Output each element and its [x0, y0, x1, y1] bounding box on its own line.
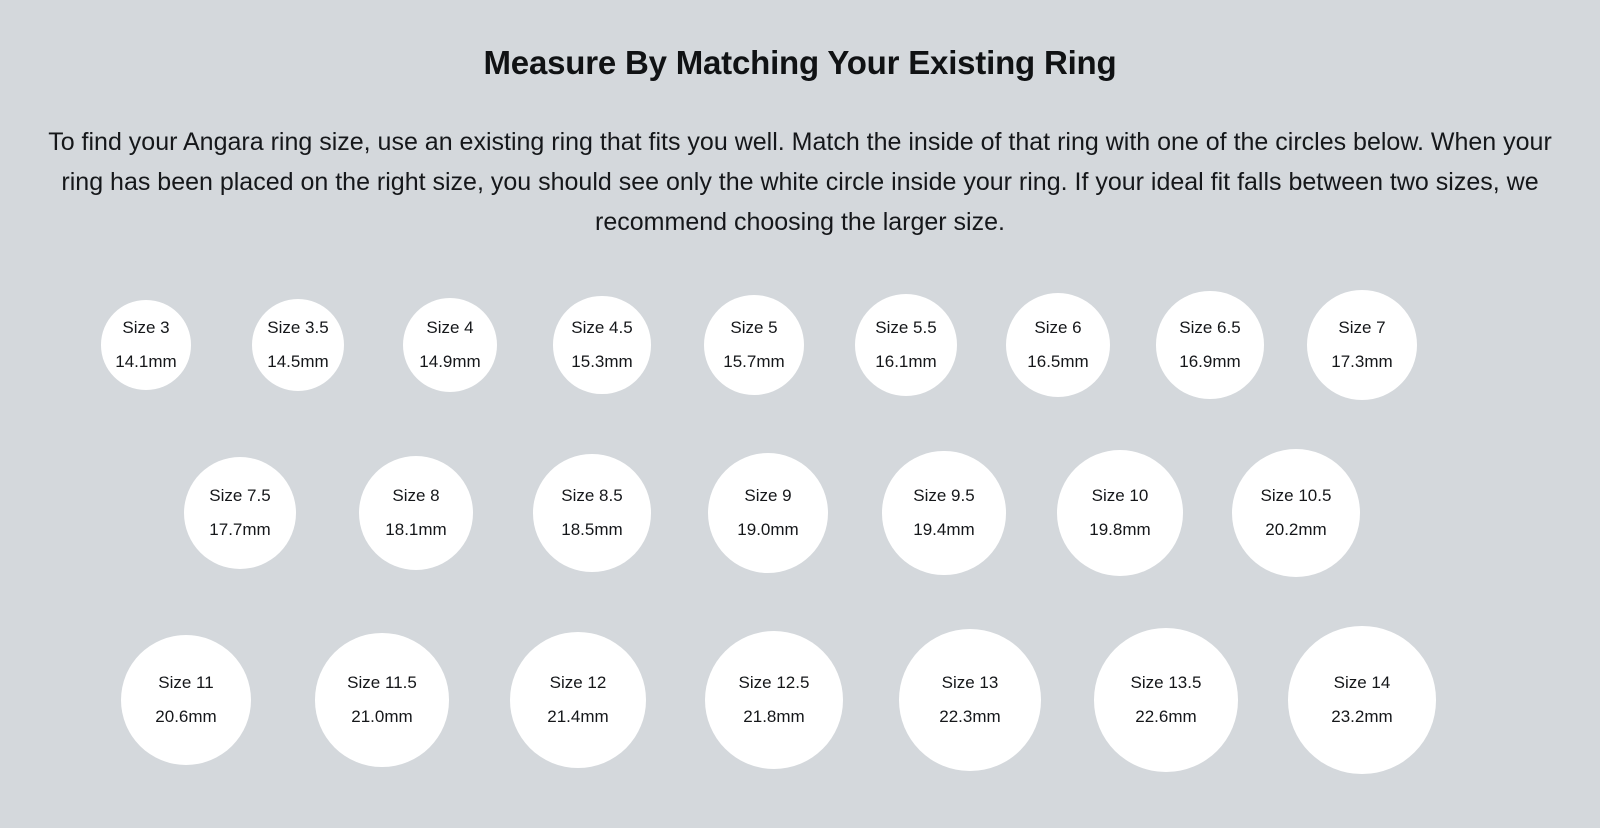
ring-diameter-label: 14.5mm	[267, 352, 328, 372]
ring-size-label: Size 13.5	[1131, 673, 1202, 693]
ring-size-label: Size 9	[744, 486, 791, 506]
ring-size-label: Size 10.5	[1261, 486, 1332, 506]
ring-size-label: Size 4	[426, 318, 473, 338]
ring-size-label: Size 5	[730, 318, 777, 338]
ring-size-label: Size 10	[1092, 486, 1149, 506]
ring-diameter-label: 15.7mm	[723, 352, 784, 372]
ring-size-circle[interactable]: Size 8.518.5mm	[533, 454, 650, 571]
ring-size-circle[interactable]: Size 515.7mm	[704, 295, 804, 395]
ring-size-circle[interactable]: Size 1120.6mm	[121, 635, 252, 766]
ring-diameter-label: 22.6mm	[1135, 707, 1196, 727]
ring-diameter-label: 18.1mm	[385, 520, 446, 540]
ring-diameter-label: 18.5mm	[561, 520, 622, 540]
ring-diameter-label: 14.9mm	[419, 352, 480, 372]
ring-size-label: Size 6	[1034, 318, 1081, 338]
ring-size-label: Size 7.5	[209, 486, 270, 506]
ring-diameter-label: 14.1mm	[115, 352, 176, 372]
ring-size-circle[interactable]: Size 314.1mm	[101, 300, 191, 390]
ring-circle-grid: Size 314.1mmSize 3.514.5mmSize 414.9mmSi…	[0, 0, 1600, 828]
ring-diameter-label: 16.1mm	[875, 352, 936, 372]
ring-size-label: Size 6.5	[1179, 318, 1240, 338]
ring-size-label: Size 8.5	[561, 486, 622, 506]
ring-size-label: Size 3.5	[267, 318, 328, 338]
ring-size-circle[interactable]: Size 4.515.3mm	[553, 296, 650, 393]
ring-size-label: Size 11	[158, 673, 213, 693]
ring-size-label: Size 4.5	[571, 318, 632, 338]
ring-size-circle[interactable]: Size 3.514.5mm	[252, 299, 344, 391]
ring-diameter-label: 20.2mm	[1265, 520, 1326, 540]
ring-size-label: Size 3	[122, 318, 169, 338]
ring-diameter-label: 16.5mm	[1027, 352, 1088, 372]
ring-size-circle[interactable]: Size 717.3mm	[1307, 290, 1417, 400]
ring-diameter-label: 16.9mm	[1179, 352, 1240, 372]
ring-size-circle[interactable]: Size 10.520.2mm	[1232, 449, 1360, 577]
ring-size-circle[interactable]: Size 919.0mm	[708, 453, 829, 574]
ring-diameter-label: 21.8mm	[743, 707, 804, 727]
ring-size-label: Size 14	[1334, 673, 1391, 693]
ring-diameter-label: 17.3mm	[1331, 352, 1392, 372]
ring-size-circle[interactable]: Size 616.5mm	[1006, 293, 1111, 398]
ring-size-chart-page: Measure By Matching Your Existing Ring T…	[0, 0, 1600, 828]
ring-diameter-label: 22.3mm	[939, 707, 1000, 727]
ring-size-label: Size 11.5	[347, 673, 417, 693]
ring-size-label: Size 13	[942, 673, 999, 693]
ring-size-label: Size 7	[1338, 318, 1385, 338]
ring-diameter-label: 20.6mm	[155, 707, 216, 727]
ring-size-circle[interactable]: Size 1221.4mm	[510, 632, 646, 768]
ring-size-circle[interactable]: Size 414.9mm	[403, 298, 498, 393]
ring-size-label: Size 12	[550, 673, 607, 693]
ring-size-circle[interactable]: Size 1423.2mm	[1288, 626, 1435, 773]
ring-diameter-label: 19.4mm	[913, 520, 974, 540]
ring-size-circle[interactable]: Size 6.516.9mm	[1156, 291, 1263, 398]
ring-size-circle[interactable]: Size 13.522.6mm	[1094, 628, 1238, 772]
ring-diameter-label: 19.8mm	[1089, 520, 1150, 540]
ring-size-label: Size 8	[392, 486, 439, 506]
ring-diameter-label: 17.7mm	[209, 520, 270, 540]
ring-diameter-label: 21.0mm	[351, 707, 412, 727]
ring-size-circle[interactable]: Size 1019.8mm	[1057, 450, 1183, 576]
ring-diameter-label: 21.4mm	[547, 707, 608, 727]
ring-size-circle[interactable]: Size 11.521.0mm	[315, 633, 448, 766]
ring-diameter-label: 23.2mm	[1331, 707, 1392, 727]
ring-size-label: Size 9.5	[913, 486, 974, 506]
ring-size-circle[interactable]: Size 9.519.4mm	[882, 451, 1005, 574]
ring-size-label: Size 12.5	[739, 673, 810, 693]
ring-size-circle[interactable]: Size 5.516.1mm	[855, 294, 957, 396]
ring-size-circle[interactable]: Size 818.1mm	[359, 456, 474, 571]
ring-size-circle[interactable]: Size 12.521.8mm	[705, 631, 843, 769]
ring-diameter-label: 15.3mm	[571, 352, 632, 372]
ring-diameter-label: 19.0mm	[737, 520, 798, 540]
ring-size-circle[interactable]: Size 7.517.7mm	[184, 457, 296, 569]
ring-size-label: Size 5.5	[875, 318, 936, 338]
ring-size-circle[interactable]: Size 1322.3mm	[899, 629, 1041, 771]
